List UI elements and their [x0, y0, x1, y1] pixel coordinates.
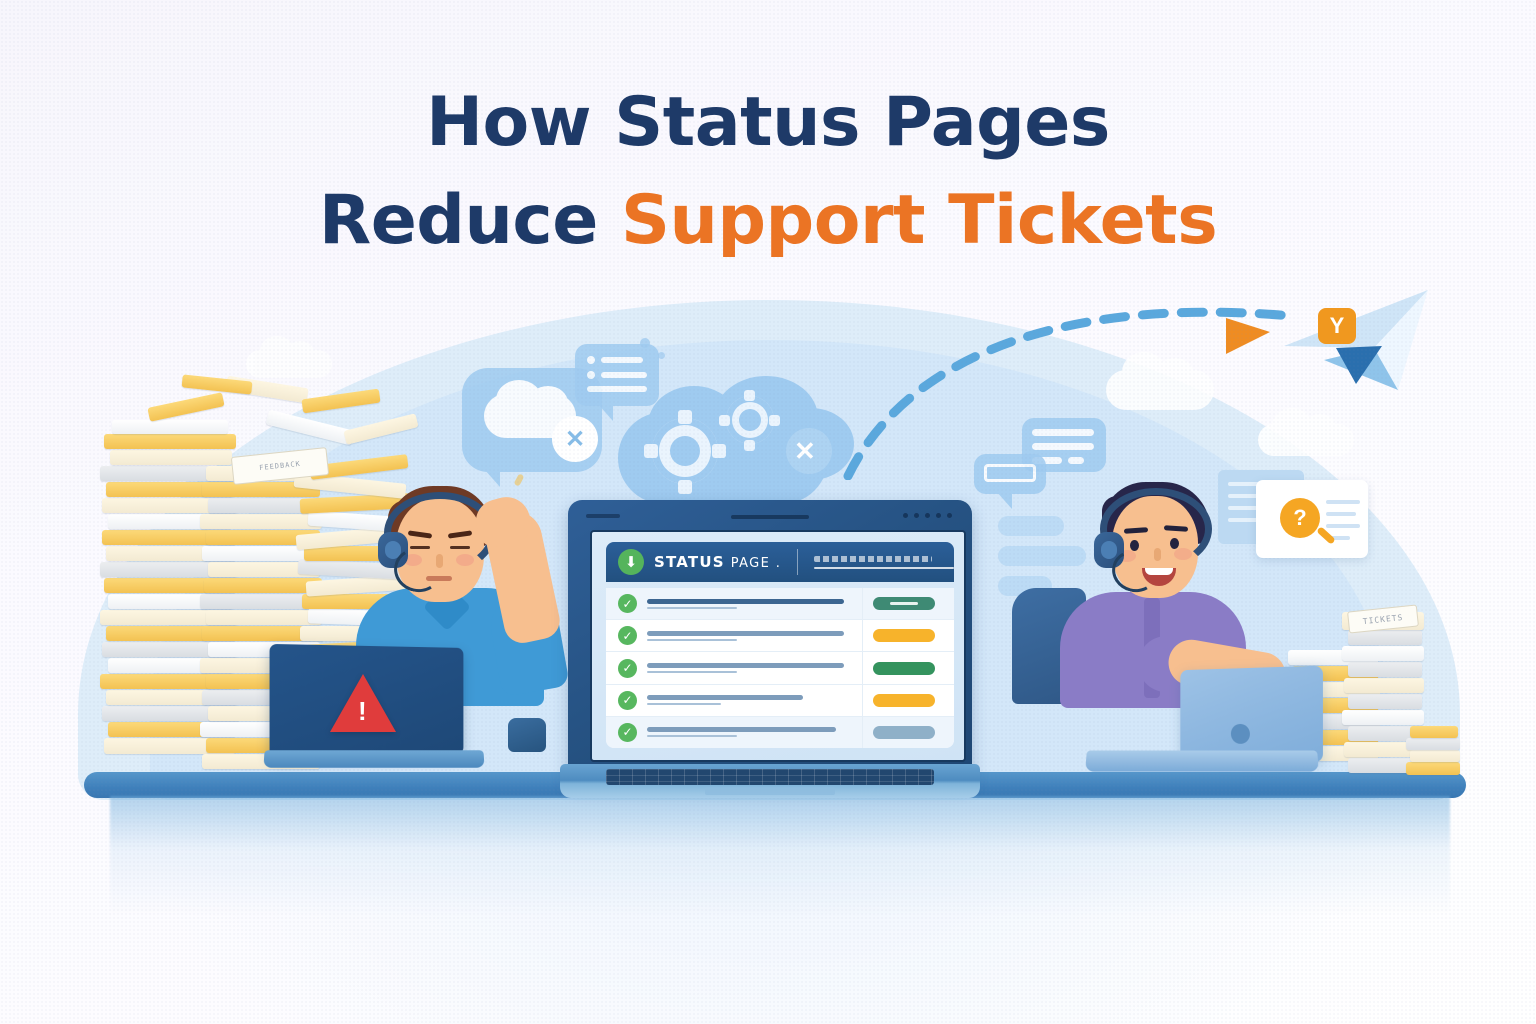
- status-badge: [873, 629, 935, 642]
- status-badge: [873, 694, 935, 707]
- desk-reflection: [110, 796, 1450, 916]
- header-divider: [797, 549, 798, 575]
- warning-exclamation: !: [358, 698, 367, 724]
- status-badge: [873, 662, 935, 675]
- status-row-list: ✓ ✓: [606, 588, 954, 748]
- status-page-meta: [814, 556, 954, 569]
- status-row[interactable]: ✓: [606, 620, 954, 652]
- check-circle-icon: ✓: [618, 594, 637, 613]
- left-laptop-warning: !: [272, 646, 504, 776]
- magnifier-question-icon: ?: [1280, 498, 1320, 538]
- right-laptop-base: [1085, 751, 1319, 772]
- title-line-2-prefix: Reduce: [319, 181, 621, 260]
- plane-badge: Y: [1318, 308, 1356, 344]
- status-row[interactable]: ✓: [606, 588, 954, 620]
- status-page-header: ⬇ STATUS PAGE .: [606, 542, 954, 582]
- confetti-bit: [658, 352, 665, 359]
- check-circle-icon: ✓: [618, 723, 637, 742]
- webcam-notch: [731, 515, 809, 519]
- laptop-screen: ⬇ STATUS PAGE . ✓: [590, 530, 966, 762]
- laptop-lid: ⬇ STATUS PAGE . ✓: [568, 500, 972, 782]
- check-circle-icon: ✓: [618, 626, 637, 645]
- status-page-brand: STATUS PAGE .: [654, 553, 781, 571]
- brand-bold: STATUS: [654, 553, 725, 571]
- status-pill-cell: [862, 620, 944, 651]
- status-pill-cell: [862, 652, 944, 683]
- service-name-placeholder: [647, 663, 852, 673]
- status-pill-cell: [862, 717, 944, 748]
- status-row[interactable]: ✓: [606, 652, 954, 684]
- status-badge: [873, 597, 935, 610]
- service-name-placeholder: [647, 695, 852, 705]
- page-title: How Status Pages Reduce Support Tickets: [0, 74, 1536, 270]
- download-circle-icon: ⬇: [618, 549, 644, 575]
- check-circle-icon: ✓: [618, 659, 637, 678]
- x-mark-icon: ✕: [552, 416, 598, 462]
- status-pill-cell: [862, 588, 944, 619]
- status-row[interactable]: ✓: [606, 685, 954, 717]
- status-pill-cell: [862, 685, 944, 716]
- laptop-base: [560, 764, 980, 798]
- service-name-placeholder: [647, 727, 852, 737]
- illustration-canvas: ✕ ✕: [0, 0, 1536, 1024]
- brand-light: PAGE .: [731, 556, 782, 571]
- confetti-bit: [640, 338, 650, 348]
- paper-plane-icon: Y: [1278, 286, 1438, 396]
- laptop-logo: [1231, 724, 1250, 744]
- plane-trail-orange: [1226, 318, 1270, 354]
- service-name-placeholder: [647, 631, 852, 641]
- status-badge: [873, 726, 935, 739]
- right-laptop-lid: [1180, 666, 1323, 763]
- gears-cloud: ✕: [618, 372, 858, 520]
- title-line-1: How Status Pages: [0, 74, 1536, 172]
- bezel-detail: [586, 514, 620, 518]
- title-line-2: Reduce Support Tickets: [0, 172, 1536, 270]
- laptop-keyboard[interactable]: [606, 769, 934, 785]
- laptop-trackpad[interactable]: [705, 787, 835, 795]
- left-laptop-base: [263, 750, 484, 767]
- bezel-dots: [903, 513, 952, 518]
- status-row[interactable]: ✓: [606, 717, 954, 748]
- mouse-device: [508, 718, 546, 752]
- right-laptop: [1078, 668, 1318, 780]
- title-line-2-accent: Support Tickets: [621, 181, 1217, 260]
- center-laptop: ⬇ STATUS PAGE . ✓: [560, 500, 980, 800]
- service-name-placeholder: [647, 599, 852, 609]
- check-circle-icon: ✓: [618, 691, 637, 710]
